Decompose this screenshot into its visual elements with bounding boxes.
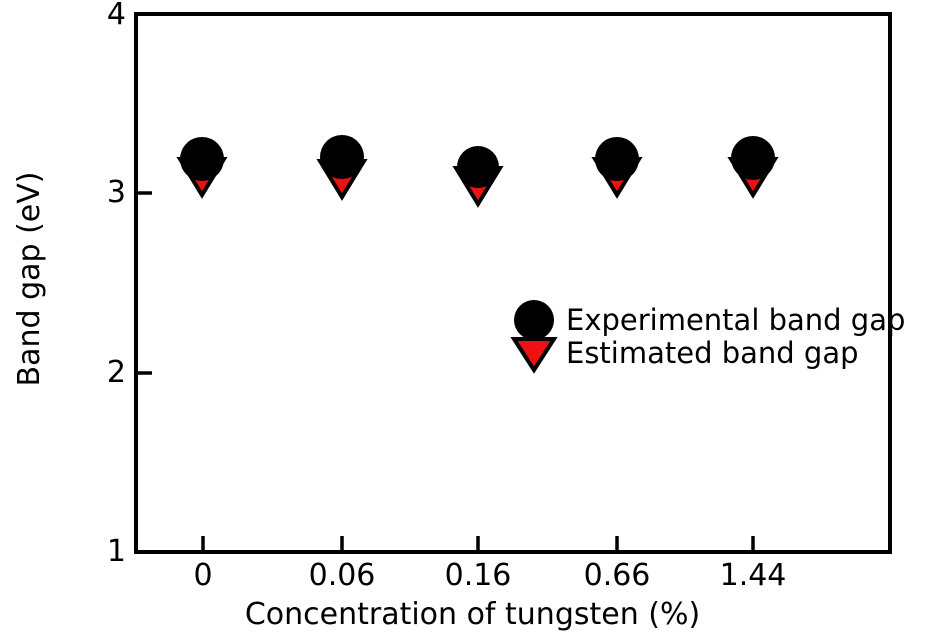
x-tick-label-1: 0.06 <box>309 561 376 591</box>
legend-item-experimental-label: Experimental band gap <box>566 305 905 335</box>
y-tick-label-2: 2 <box>86 358 126 388</box>
data-point-experimental-4 <box>731 136 775 180</box>
x-tick-label-4: 1.44 <box>720 561 787 591</box>
data-point-experimental-0 <box>180 137 224 181</box>
band-gap-scatter-chart: 4 3 2 1 0 0.06 0.16 0.66 1.44 Concentrat… <box>0 0 945 636</box>
data-point-experimental-3 <box>595 137 639 181</box>
y-axis-label: Band gap (eV) <box>13 44 47 514</box>
y-tick-label-1: 1 <box>86 537 126 567</box>
data-point-experimental-1 <box>320 135 364 179</box>
x-tick-label-0: 0 <box>193 561 212 591</box>
y-axis-label-wrapper: Band gap (eV) <box>0 0 60 570</box>
data-point-experimental-2 <box>457 146 499 188</box>
y-tick-label-3: 3 <box>86 178 126 208</box>
x-axis-ticks <box>203 536 753 552</box>
legend-markers <box>514 300 554 370</box>
y-axis-ticks <box>136 193 152 373</box>
series-experimental-band-gap <box>180 135 775 188</box>
x-axis-label: Concentration of tungsten (%) <box>0 598 945 632</box>
legend-item-estimated-label: Estimated band gap <box>566 338 859 368</box>
plot-frame <box>136 14 890 552</box>
legend-triangle-down-marker-icon <box>514 339 554 370</box>
x-tick-label-2: 0.16 <box>445 561 512 591</box>
y-tick-label-4: 4 <box>86 0 126 30</box>
x-tick-label-3: 0.66 <box>584 561 651 591</box>
legend-circle-marker-icon <box>514 300 554 340</box>
